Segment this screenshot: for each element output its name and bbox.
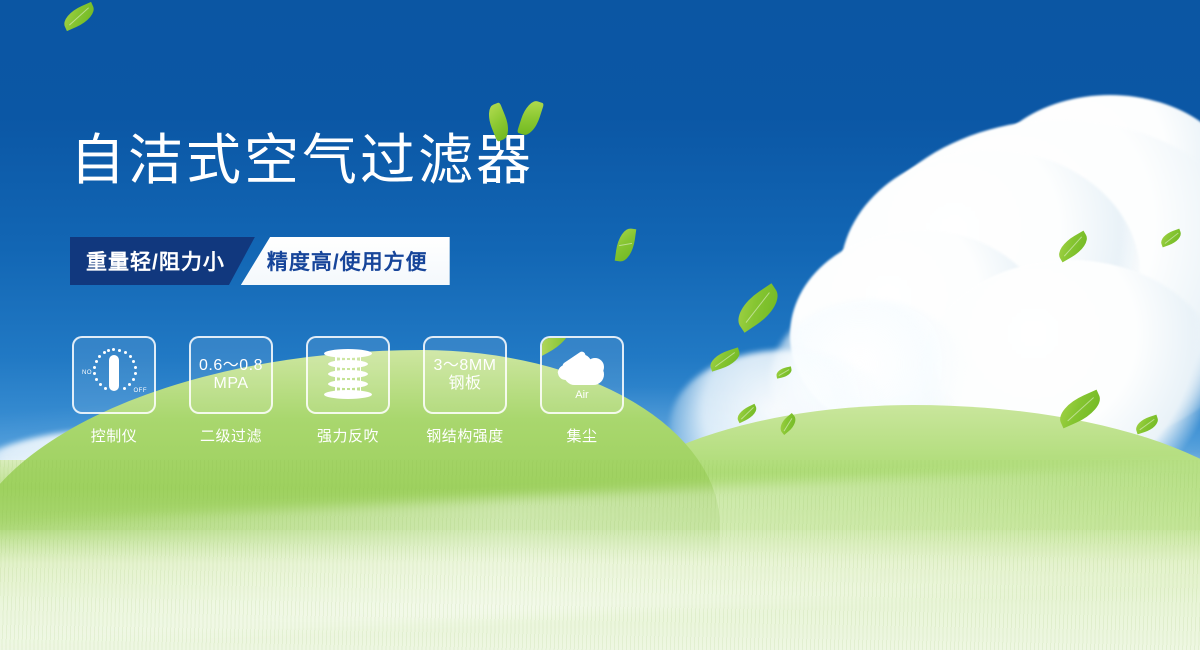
cloud-shape [670,350,900,500]
cloud-shape [150,450,450,590]
cloud-shape [790,230,1050,440]
floating-leaf-icon [1134,415,1161,435]
feature-item-backblow: 强力反吹 [306,336,390,446]
feature-item-dust-collection: Air 集尘 [540,336,624,446]
feature-icon-box [306,336,390,414]
dial-label-off: OFF [134,388,148,395]
air-label: Air [552,389,612,402]
cloud-shape [700,440,1040,595]
cloud-shape [980,95,1200,285]
grass-foreground [0,530,1200,650]
cloud-shape [900,450,1200,600]
cloud-shape [920,260,1200,490]
sprout-leaf-left [484,102,513,142]
floating-leaf-icon [1159,229,1184,248]
floating-leaf-icon [775,366,793,378]
floating-leaf-icon [730,283,786,333]
floating-leaf-icon [1054,231,1092,263]
feature-list: NO OFF 控制仪 0.6～0.8 MPA 二级过滤 [72,336,624,446]
cloud-shape [770,300,970,460]
cloud-shape [840,150,1140,400]
feature-box-line-2: MPA [214,375,249,393]
feature-item-steel-strength: 3～8MM 钢板 钢结构强度 [423,336,507,446]
feature-item-two-stage-filter: 0.6～0.8 MPA 二级过滤 [189,336,273,446]
tagline-badges: 重量轻/阻力小 精度高/使用方便 [70,237,450,285]
feature-caption: 集尘 [566,425,597,446]
feature-icon-box: NO OFF [72,336,156,414]
filter-cartridge-icon [322,347,374,403]
cloud-shape [330,440,610,590]
floating-leaf-icon [615,227,637,263]
dial-pointer [109,355,119,391]
horizon-haze [0,455,1200,525]
floating-leaf-icon [1055,390,1106,429]
grass-field [0,460,1200,650]
feature-box-line-1: 0.6～0.8 [199,357,263,375]
product-hero-banner: 自洁式空气过滤器 重量轻/阻力小 精度高/使用方便 [0,0,1200,650]
floating-leaf-icon [735,404,760,424]
grass-texture [0,460,1200,650]
feature-icon-box: 0.6～0.8 MPA [189,336,273,414]
feature-icon-box: Air [540,336,624,414]
feature-icon-box: 3～8MM 钢板 [423,336,507,414]
feature-caption: 强力反吹 [317,425,379,446]
feature-box-line-2: 钢板 [448,375,481,393]
cloud-shape [850,120,1200,450]
floating-leaf-icon [60,2,98,31]
field-path-highlight [0,449,1200,650]
gauge-dial-icon: NO OFF [83,346,145,404]
cloud-shape [60,470,320,590]
feature-caption: 控制仪 [91,425,138,446]
floating-leaf-icon [776,413,799,435]
feature-item-controller: NO OFF 控制仪 [72,336,156,446]
cloud-shape [0,430,270,590]
cloud-shape [420,480,720,600]
tagline-badge-primary: 重量轻/阻力小 [70,237,255,285]
feature-caption: 钢结构强度 [426,425,504,446]
sprout-leaves-icon [478,96,556,144]
air-cloud-icon: Air [552,351,612,399]
feature-caption: 二级过滤 [200,425,262,446]
grass-hill-right [580,405,1200,555]
cloud-shape [520,465,840,595]
title-block: 自洁式空气过滤器 [70,132,534,190]
tagline-badge-secondary: 精度高/使用方便 [241,237,450,285]
sprout-leaf-right [517,98,544,137]
floating-leaf-icon [707,347,742,371]
page-title: 自洁式空气过滤器 [70,132,534,190]
dial-label-no: NO [82,370,92,377]
feature-box-line-1: 3～8MM [434,357,497,375]
